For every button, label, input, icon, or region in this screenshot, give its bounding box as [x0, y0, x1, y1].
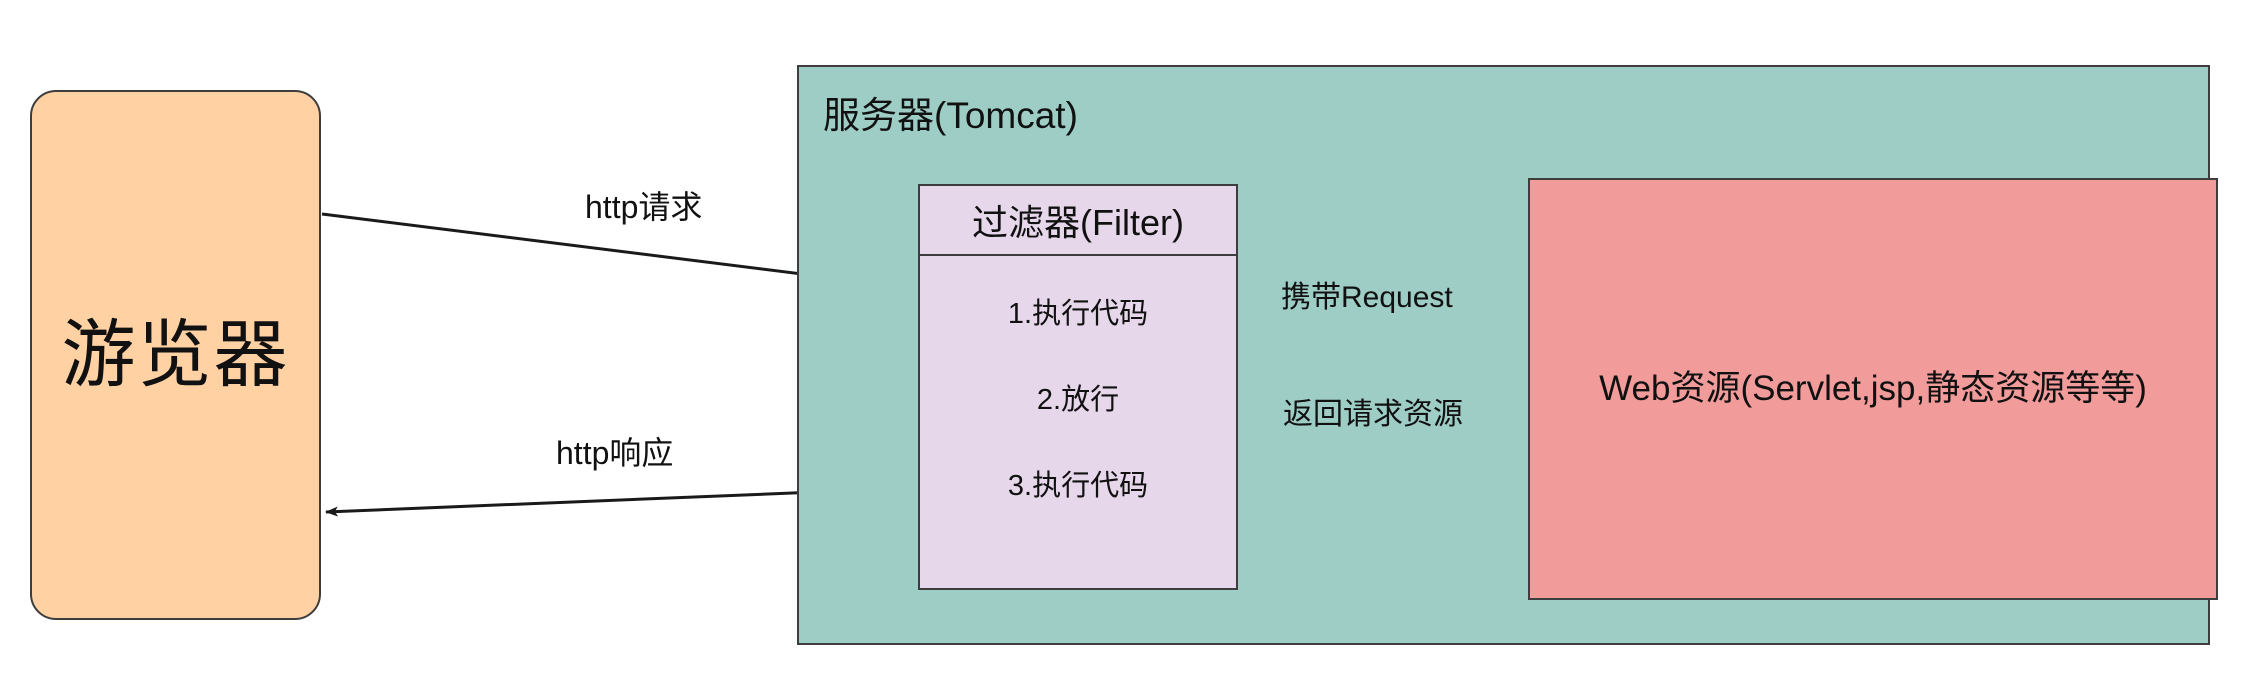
- filter-node-header: 过滤器(Filter): [920, 186, 1236, 256]
- browser-node-label: 游览器: [62, 318, 290, 392]
- web-resource-node[interactable]: Web资源(Servlet,jsp,静态资源等等): [1528, 178, 2218, 600]
- diagram-canvas: 游览器 服务器(Tomcat) 过滤器(Filter) 1.执行代码 2.放行 …: [0, 0, 2257, 680]
- filter-node-header-label: 过滤器(Filter): [972, 194, 1184, 246]
- filter-step-list: 1.执行代码 2.放行 3.执行代码: [920, 256, 1236, 588]
- arrow-label-carry-request: 携带Request: [1281, 272, 1453, 316]
- web-resource-node-label: Web资源(Servlet,jsp,静态资源等等): [1543, 367, 2203, 410]
- arrow-label-return-resource: 返回请求资源: [1283, 389, 1463, 433]
- filter-step-1: 1.执行代码: [1008, 290, 1148, 332]
- filter-step-3: 3.执行代码: [1008, 462, 1148, 504]
- arrow-label-http-response: http响应: [556, 428, 673, 474]
- filter-node[interactable]: 过滤器(Filter) 1.执行代码 2.放行 3.执行代码: [918, 184, 1238, 590]
- arrow-label-http-request: http请求: [585, 182, 702, 228]
- filter-step-2: 2.放行: [1037, 376, 1119, 418]
- browser-node[interactable]: 游览器: [30, 90, 321, 620]
- server-container-title: 服务器(Tomcat): [823, 85, 1078, 139]
